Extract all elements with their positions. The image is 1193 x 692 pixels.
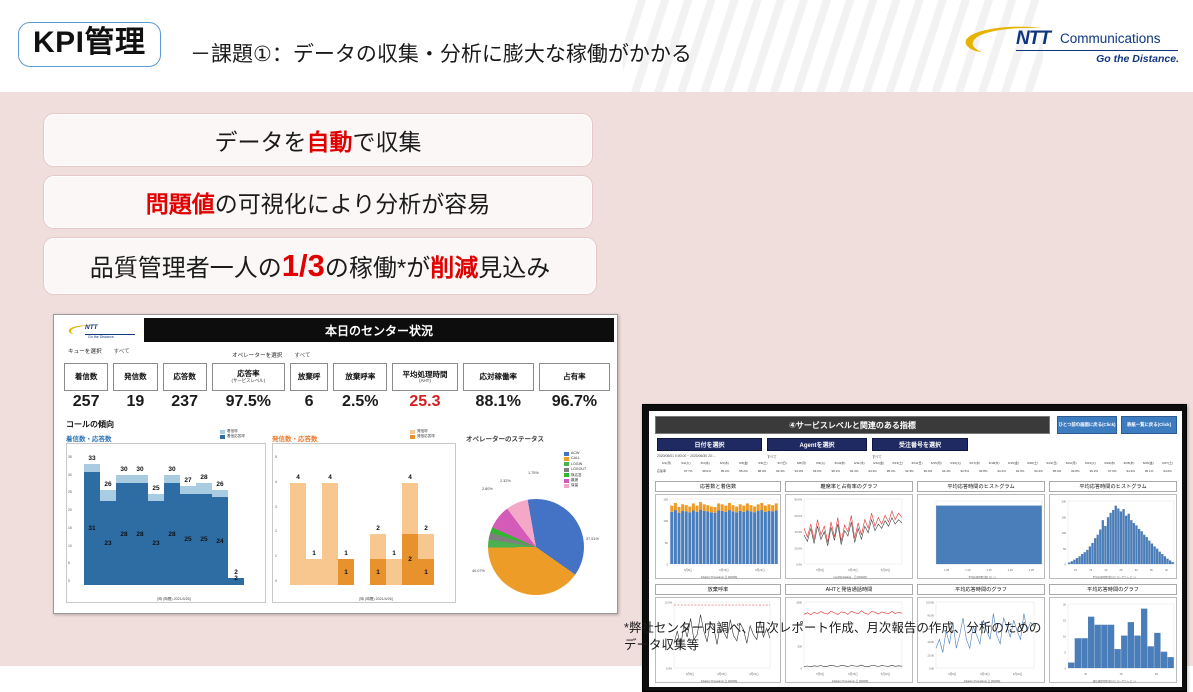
bar-segment-top [132, 475, 148, 482]
bar-value-label: 24 [212, 538, 228, 545]
date-cell: 6/20(土) [1023, 461, 1042, 465]
svg-text:10: 10 [1084, 672, 1087, 676]
date-cell: 6/12(金) [869, 461, 888, 465]
legend-item: 発信応答呼 [410, 434, 435, 439]
svg-text:5.0%: 5.0% [666, 667, 673, 671]
rate-cell: 92.5% [956, 469, 974, 473]
operator-status-title: オペレーターのステータス [466, 433, 544, 443]
bar-total-label: 4 [290, 474, 306, 481]
kpi-value-row: 2571923797.5%62.5%25.388.1%96.7% [64, 393, 610, 411]
bar-column: 3028 [164, 457, 180, 585]
svg-text:10.0%: 10.0% [665, 601, 673, 605]
kpi-header-title: 占有率 [563, 373, 586, 381]
bar-total-label: 30 [132, 466, 148, 473]
date-cell: 6/9(火) [811, 461, 830, 465]
legend-swatch-icon [410, 435, 415, 439]
svg-text:80.00: 80.00 [928, 614, 935, 618]
bar-column: 1 [386, 457, 402, 585]
svg-text:30: 30 [1135, 568, 1138, 572]
kpi-value-3: 97.5% [212, 393, 285, 411]
legend-swatch-icon [220, 430, 225, 434]
bar-column: 2523 [148, 457, 164, 585]
svg-text:100.00: 100.00 [926, 601, 934, 605]
kpi-header-5: 放棄呼率 [333, 363, 387, 391]
dashboard-ntt-logo: NTT Go the Distance. [68, 323, 138, 341]
y-tick: 20 [68, 508, 72, 512]
date-cell: 6/22(月) [1062, 461, 1081, 465]
svg-text:200: 200 [1062, 500, 1067, 504]
svg-text:Initiation Timestamp 日 [2020/6: Initiation Timestamp 日 [2020/6] [832, 679, 869, 683]
callout-box-1: データを自動で収集 [44, 114, 592, 166]
panel-title-r2c1: 放棄呼率 [655, 584, 781, 595]
date-cell: 6/4(木) [715, 461, 734, 465]
svg-text:6月22日: 6月22日 [755, 568, 765, 572]
panel-title-r2c2: AHTと発信通話時間 [785, 584, 913, 595]
rate-value-row: 97.7%98.0%95.2%95.2%98.4%94.4%93.0%93.0%… [679, 469, 1177, 473]
bar-segment-top [196, 483, 212, 494]
page-title-badge: KPI管理 [18, 22, 161, 67]
bar-segment-top [116, 475, 132, 482]
date-cell: 6/24(水) [1100, 461, 1119, 465]
date-cell: 6/18(木) [985, 461, 1004, 465]
svg-text:5: 5 [1065, 651, 1067, 655]
tab-select-order-number[interactable]: 受注番号を選択 [872, 438, 968, 451]
occupancy-idle-line-chart: 80.0%60.0%40.0%20.0%0.0%6月8日6月15日6月22日mo… [786, 495, 914, 580]
svg-text:発信通話時間 (秒) (ヒストグラム ビン): 発信通話時間 (秒) (ヒストグラム ビン) [1093, 679, 1136, 683]
operator-filter-value: すべて [294, 353, 310, 359]
rate-cell: 94.4% [863, 469, 881, 473]
page-subtitle: －課題①：データの収集・分析に膨大な稼働がかかる [190, 38, 692, 68]
svg-text:60.0%: 60.0% [795, 514, 803, 518]
date-cell: 6/27(土) [1158, 461, 1177, 465]
kpi-value-1: 19 [113, 393, 157, 411]
legend-label: 着信応答呼 [227, 434, 245, 439]
left-dashboard-title: 本日のセンター状況 [144, 318, 614, 342]
tab-select-agent[interactable]: Agentを選択 [767, 438, 867, 451]
date-range-meta: 2020/06/01 0:00:00 ~ 2020/06/30 23:... [657, 454, 716, 458]
dashboard-logo-text: NTT [85, 324, 98, 331]
bar-column [244, 457, 260, 585]
legend-label: 保留 [571, 483, 578, 488]
operator-status-legend: ACWCALLLOGINLOGOUT無応答離席保留 [564, 451, 586, 489]
y-tick: 0 [275, 579, 277, 583]
rate-cell: 94.0% [1158, 469, 1176, 473]
rate-cell: 94.4% [771, 469, 789, 473]
bar-value-label: 25 [196, 536, 212, 543]
bar-total-label: 2 [418, 525, 434, 532]
svg-text:6月8日: 6月8日 [816, 568, 824, 572]
response-time-histogram-bell: 20015010050010152025303540平均応答時間 (秒) (ヒス… [1050, 495, 1178, 580]
outbound-duration-histogram: 20151050101520発信通話時間 (秒) (ヒストグラム ビン) [1050, 598, 1178, 684]
date-cell: 6/13(土) [888, 461, 907, 465]
date-cell: 6/23(火) [1081, 461, 1100, 465]
kpi-value-4: 6 [290, 393, 328, 411]
bar-segment-top [370, 534, 386, 560]
queue-filter[interactable]: キューを選択すべて [68, 347, 130, 355]
outbound-bar-group: 414112114221 [290, 457, 450, 585]
svg-text:50: 50 [1063, 547, 1066, 551]
svg-text:40: 40 [1165, 568, 1168, 572]
logo-tagline: Go the Distance. [1096, 53, 1179, 65]
svg-text:6月15日: 6月15日 [717, 672, 727, 676]
bar-value-label: 28 [132, 531, 148, 538]
rate-cell: 94.4% [1029, 469, 1047, 473]
slide-body: データを自動で収集 問題値の可視化により分析が容易 品質管理者一人の1/3の稼働… [0, 92, 1193, 666]
legend-swatch-icon [564, 473, 569, 477]
kpi-value-6: 25.3 [392, 393, 457, 411]
rate-cell: 98.4% [753, 469, 771, 473]
rate-cell: 97.7% [679, 469, 697, 473]
rate-cell: 93.0% [808, 469, 826, 473]
svg-text:100: 100 [1062, 531, 1067, 535]
answered-vs-inbound-chart: 1501005006月8日6月15日6月22日Initiation Timest… [656, 495, 782, 580]
bar-column: 3028 [116, 457, 132, 585]
svg-text:平均応答時間 (秒) (ヒストグラム ビン): 平均応答時間 (秒) (ヒストグラム ビン) [1093, 575, 1136, 579]
svg-text:80.0%: 80.0% [795, 498, 803, 502]
panel-title-r1c3: 平均応答時間のヒストグラム [917, 481, 1045, 492]
kpi-header-0: 着信数 [64, 363, 108, 391]
bar-value-label: 28 [164, 531, 180, 538]
date-cell: 6/5(金) [734, 461, 753, 465]
panel-title-r2c4: 平均応答時間のグラフ [1049, 584, 1177, 595]
legend-item: 保留 [564, 483, 586, 488]
panel-r2c4: 20151050101520発信通話時間 (秒) (ヒストグラム ビン) [1049, 597, 1177, 683]
callout-box-2: 問題値の可視化により分析が容易 [44, 176, 592, 228]
inbound-y-axis-ticks: 35302520151050 [68, 455, 72, 583]
bar-segment-top [100, 490, 116, 501]
back-one-screen-button[interactable]: ひとつ前の画面に戻る(Click) [1057, 416, 1117, 434]
date-cell: 6/8(月) [792, 461, 811, 465]
svg-text:0: 0 [666, 563, 668, 567]
slide-header: KPI管理 －課題①：データの収集・分析に膨大な稼働がかかる NTT Commu… [0, 0, 1193, 92]
rate-cell: 98.0% [697, 469, 715, 473]
legend-swatch-icon [564, 462, 569, 466]
queue-filter-value: すべて [114, 349, 130, 355]
bar-segment-top [418, 534, 434, 560]
svg-text:0: 0 [1065, 667, 1067, 671]
panel-title-r1c1: 応答数と着信数 [655, 481, 781, 492]
rate-cell: 95.4% [882, 469, 900, 473]
svg-text:6月22日: 6月22日 [749, 672, 759, 676]
rate-cell: 97.0% [1103, 469, 1121, 473]
rate-row-label: 応答率 [657, 469, 666, 473]
svg-text:20.0%: 20.0% [795, 546, 803, 550]
bar-column: 11 [338, 457, 354, 585]
bar-column: 42 [402, 457, 418, 585]
y-tick: 1 [275, 554, 277, 558]
svg-text:10: 10 [1074, 568, 1077, 572]
kpi-header-title: 応答率 [237, 370, 260, 378]
svg-text:6月8日: 6月8日 [948, 672, 956, 676]
inbound-chart-legend: 着信呼着信応答呼 [220, 429, 245, 440]
bar-total-label: 2 [370, 525, 386, 532]
kpi-header-6: 平均処理時間(AHT) [392, 363, 457, 391]
kpi-header-1: 発信数 [113, 363, 157, 391]
bar-column: 2623 [100, 457, 116, 585]
svg-text:6月15日: 6月15日 [848, 568, 858, 572]
rate-cell: 93.8% [1066, 469, 1084, 473]
svg-text:平均応答時間 (秒) (ビン): 平均応答時間 (秒) (ビン) [968, 575, 995, 579]
kpi-header-title: 放棄呼率 [345, 373, 375, 381]
page-title: KPI管理 [33, 26, 146, 59]
outbound-y-axis-ticks: 543210 [275, 455, 277, 583]
rate-cell: 92.3% [900, 469, 918, 473]
callout-box-3: 品質管理者一人の1/3の稼働*が削減見込み [44, 238, 596, 294]
bar-segment-top [386, 559, 402, 585]
svg-text:6月8日: 6月8日 [686, 672, 694, 676]
rate-cell: 95.1% [1140, 469, 1158, 473]
y-tick: 35 [68, 455, 72, 459]
inbound-x-axis-label: [時 (時間) 2021/4/26] [114, 597, 234, 602]
bar-segment-top [84, 464, 100, 471]
left-dashboard-screenshot: NTT Go the Distance. 本日のセンター状況 キューを選択すべて… [53, 314, 618, 614]
svg-text:1.05: 1.05 [944, 568, 950, 572]
bar-column: 22 [228, 457, 244, 585]
date-cell: 6/7(日) [773, 461, 792, 465]
svg-text:20.00: 20.00 [928, 653, 935, 657]
bar-total-label: 4 [402, 474, 418, 481]
outbound-chart-legend: 発信呼発信応答呼 [410, 429, 435, 440]
y-tick: 3 [275, 505, 277, 509]
y-tick: 5 [275, 455, 277, 459]
back-to-index-button[interactable]: 表紙一覧に戻る(Click) [1121, 416, 1177, 434]
kpi-header-title: 着信数 [75, 373, 98, 381]
rate-cell: 95.2% [716, 469, 734, 473]
svg-text:Initiation Timestamp 日 [2020/6: Initiation Timestamp 日 [2020/6] [701, 575, 738, 579]
bar-column: 2825 [196, 457, 212, 585]
legend-swatch-icon [564, 468, 569, 472]
legend-swatch-icon [410, 430, 415, 434]
outbound-x-axis-label: [時 (時間) 2021/4/26] [316, 597, 436, 602]
bar-total-label: 26 [212, 481, 228, 488]
panel-r1c2: 80.0%60.0%40.0%20.0%0.0%6月8日6月15日6月22日mo… [785, 494, 913, 579]
svg-text:15: 15 [1120, 672, 1123, 676]
rate-cell: 96.2% [1085, 469, 1103, 473]
svg-text:1.10: 1.10 [965, 568, 971, 572]
bar-segment-top [212, 490, 228, 497]
svg-text:Initiation Timestamp 日 [2020/6: Initiation Timestamp 日 [2020/6] [964, 679, 1001, 683]
kpi-header-title: 発信数 [124, 373, 147, 381]
pie-label-call: 40.07% [472, 569, 485, 573]
date-cell: 6/10(水) [830, 461, 849, 465]
svg-text:20: 20 [1063, 603, 1066, 607]
rate-cell: 95.4% [1048, 469, 1066, 473]
svg-text:0: 0 [801, 667, 803, 671]
kpi-header-row: 着信数発信数応答数応答率(サービスレベル)放棄呼放棄呼率平均処理時間(AHT)応… [64, 363, 610, 391]
kpi-value-0: 257 [64, 393, 108, 411]
kpi-value-8: 96.7% [539, 393, 610, 411]
legend-label: 発信応答呼 [417, 434, 435, 439]
legend-item: 着信応答呼 [220, 434, 245, 439]
date-cell: 6/21(日) [1042, 461, 1061, 465]
date-cell: 6/25(木) [1119, 461, 1138, 465]
bar-column [354, 457, 370, 585]
bar-total-label: 1 [386, 550, 402, 557]
bar-value-label: 1 [338, 569, 354, 576]
kpi-header-4: 放棄呼 [290, 363, 329, 391]
y-tick: 2 [275, 529, 277, 533]
bar-value-label: 1 [370, 569, 386, 576]
svg-text:6月22日: 6月22日 [1013, 672, 1023, 676]
legend-swatch-icon [564, 457, 569, 461]
rate-cell: 92.8% [974, 469, 992, 473]
date-cell: 6/16(火) [946, 461, 965, 465]
bar-total-label: 33 [84, 455, 100, 462]
bar-column: 4 [290, 457, 306, 585]
date-cell: 6/2(火) [676, 461, 695, 465]
bar-total-label: 1 [338, 550, 354, 557]
svg-text:50: 50 [665, 541, 669, 545]
bar-total-label: 27 [180, 477, 196, 484]
logo-divider [1016, 50, 1178, 51]
inbound-chart-title: 着信数・応答数 [66, 433, 112, 443]
svg-text:0.00: 0.00 [929, 667, 935, 671]
y-tick: 15 [68, 526, 72, 530]
bar-value-label: 2 [402, 556, 418, 563]
kpi-header-7: 応対稼働率 [463, 363, 534, 391]
svg-text:10: 10 [1063, 635, 1066, 639]
svg-text:Initiation Timestamp 日 [2020/6: Initiation Timestamp 日 [2020/6] [701, 679, 738, 683]
queue-filter-label: キューを選択 [68, 349, 102, 355]
call-trend-section-title: コールの傾向 [66, 419, 114, 430]
date-cell: 6/26(金) [1139, 461, 1158, 465]
bar-segment-top [306, 559, 322, 585]
bar-total-label: 1 [306, 550, 322, 557]
order-filter-value: すべて [872, 454, 882, 459]
agent-filter-value: すべて [767, 454, 777, 459]
bar-column: 21 [370, 457, 386, 585]
y-tick: 5 [68, 561, 72, 565]
svg-text:15: 15 [1063, 619, 1066, 623]
bar-column: 2624 [212, 457, 228, 585]
bar-value-label: 31 [84, 525, 100, 532]
date-cell: 6/15(月) [927, 461, 946, 465]
logo-ntt-text: NTT [1016, 28, 1050, 50]
callout-text-3: 品質管理者一人の1/3の稼働*が削減見込み [90, 248, 550, 284]
bar-column: 3028 [132, 457, 148, 585]
svg-text:6月15日: 6月15日 [848, 672, 858, 676]
bar-segment-top [180, 486, 196, 493]
bar-column: 21 [418, 457, 434, 585]
bar-column: 4 [322, 457, 338, 585]
bar-value-label: 23 [148, 540, 164, 547]
bar-value-label: 25 [180, 536, 196, 543]
y-tick: 0 [68, 579, 72, 583]
y-tick: 25 [68, 490, 72, 494]
bar-segment-top [164, 475, 180, 482]
bar-column [434, 457, 450, 585]
footnote: *弊社センター内調べ、日次レポート作成、月次報告の作成、分析のためのデータ収集等 [624, 620, 1044, 654]
rate-cell: 98.1% [827, 469, 845, 473]
bar-column: 3331 [84, 457, 100, 585]
date-cell: 6/3(水) [696, 461, 715, 465]
kpi-header-3: 応答率(サービスレベル) [212, 363, 285, 391]
bar-value-label: 2 [228, 575, 244, 582]
date-cell: 6/1(月) [657, 461, 676, 465]
rate-cell: 95.2% [734, 469, 752, 473]
right-dashboard-title: ④サービスレベルと関連のある指標 [655, 416, 1050, 434]
dashboard-logo-tagline: Go the Distance. [88, 335, 115, 339]
svg-text:6月15日: 6月15日 [719, 568, 729, 572]
date-cell: 6/19(金) [1004, 461, 1023, 465]
bar-total-label: 25 [148, 485, 164, 492]
kpi-header-title: 平均処理時間 [402, 371, 447, 379]
bar-segment-top [322, 483, 338, 585]
bar-total-label: 4 [322, 474, 338, 481]
svg-text:40.0%: 40.0% [795, 530, 803, 534]
svg-text:month(Initiating... 日 [2020/6]: month(Initiating... 日 [2020/6] [833, 575, 867, 579]
pie-label-logout: 2.32% [500, 479, 511, 483]
callout-text-2: 問題値の可視化により分析が容易 [146, 185, 491, 219]
svg-text:1.15: 1.15 [986, 568, 992, 572]
bar-total-label: 26 [100, 481, 116, 488]
svg-text:15: 15 [1089, 568, 1092, 572]
bar-segment-top [148, 494, 164, 501]
operator-filter[interactable]: オペレーターを選択すべて [232, 351, 311, 359]
kpi-header-sub: (サービスレベル) [232, 378, 266, 384]
kpi-header-8: 占有率 [539, 363, 610, 391]
kpi-header-title: 放棄呼 [298, 373, 321, 381]
response-time-histogram-wide: 1.051.101.151.201.25平均応答時間 (秒) (ビン) [918, 495, 1046, 580]
rate-cell: 93.2% [992, 469, 1010, 473]
svg-text:6月15日: 6月15日 [980, 672, 990, 676]
legend-swatch-icon [564, 452, 569, 456]
bar-segment-top [402, 483, 418, 534]
svg-text:6月22日: 6月22日 [881, 568, 891, 572]
legend-swatch-icon [564, 479, 569, 483]
y-tick: 30 [68, 473, 72, 477]
rate-cell: 94.3% [1011, 469, 1029, 473]
kpi-header-sub: (AHT) [419, 378, 431, 383]
svg-text:25: 25 [1120, 568, 1123, 572]
bar-total-label: 30 [164, 466, 180, 473]
kpi-header-title: 応対稼働率 [480, 373, 518, 381]
panel-title-r1c4: 平均応答時間のヒストグラム [1049, 481, 1177, 492]
tab-select-date[interactable]: 日付を選択 [657, 438, 762, 451]
date-cell: 6/6(土) [753, 461, 772, 465]
svg-text:0: 0 [1065, 563, 1067, 567]
logo-communications-text: Communications [1060, 31, 1161, 46]
rate-cell: 93.0% [790, 469, 808, 473]
date-cell: 6/11(木) [850, 461, 869, 465]
svg-text:20: 20 [1155, 672, 1158, 676]
rate-cell: 96.0% [919, 469, 937, 473]
legend-swatch-icon [564, 484, 569, 488]
bar-column: 2725 [180, 457, 196, 585]
rate-cell: 94.4% [845, 469, 863, 473]
callout-text-1: データを自動で収集 [215, 123, 422, 157]
svg-text:1.20: 1.20 [1008, 568, 1014, 572]
bar-value-label: 23 [100, 540, 116, 547]
svg-text:35: 35 [1150, 568, 1153, 572]
rate-cell: 94.4% [1122, 469, 1140, 473]
date-cell: 6/14(日) [907, 461, 926, 465]
svg-text:20: 20 [1104, 568, 1107, 572]
bar-value-label: 28 [116, 531, 132, 538]
bar-segment-top [290, 483, 306, 585]
bar-total-label: 30 [116, 466, 132, 473]
inbound-bar-group: 33312623302830282523302827252825262422 [84, 457, 260, 585]
svg-text:1.25: 1.25 [1029, 568, 1035, 572]
date-cell: 6/17(水) [965, 461, 984, 465]
operator-filter-label: オペレーターを選択 [232, 353, 282, 359]
operator-status-pie [488, 499, 584, 595]
kpi-header-title: 応答数 [173, 373, 196, 381]
panel-title-r1c2: 離席率と占有率のグラフ [785, 481, 913, 492]
svg-text:1500: 1500 [796, 601, 802, 605]
y-tick: 10 [68, 544, 72, 548]
svg-text:6月8日: 6月8日 [816, 672, 824, 676]
